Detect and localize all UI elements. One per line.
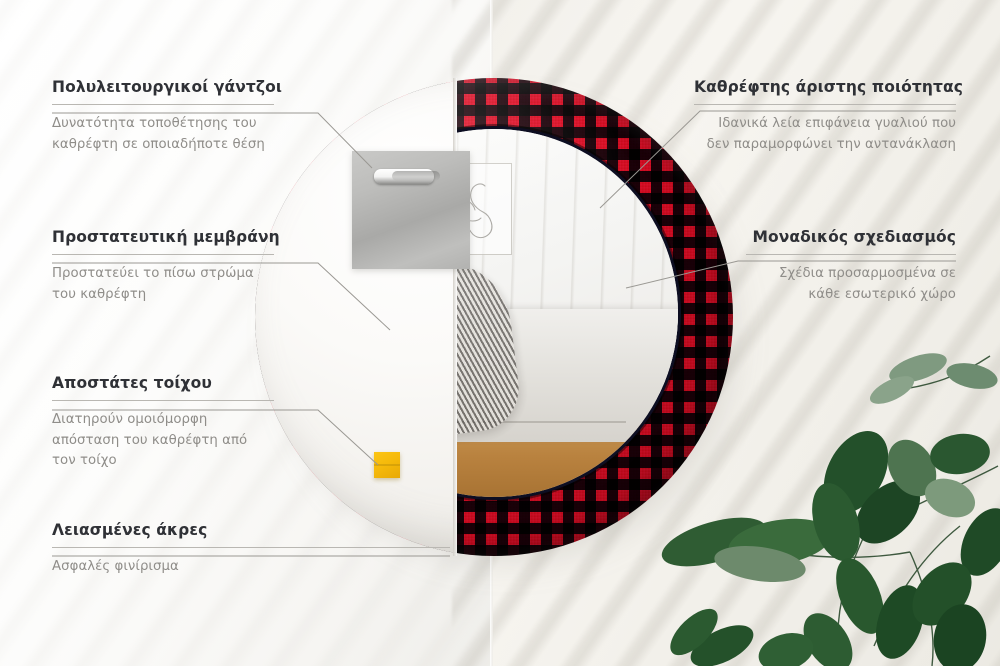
callout-unique-design-rule <box>746 254 956 255</box>
callout-unique-design-title: Μοναδικός σχεδιασμός <box>746 228 956 247</box>
callout-quality-mirror-title: Καθρέφτης άριστης ποιότητας <box>694 78 956 97</box>
callout-hooks-rule <box>52 104 274 105</box>
callout-spacers-description: Διατηρούν ομοιόμορφη απόσταση του καθρέφ… <box>52 410 274 471</box>
callout-quality-mirror: Καθρέφτης άριστης ποιότητας Ιδανικά λεία… <box>694 78 956 155</box>
callout-edges-description: Ασφαλές φινίρισμα <box>52 557 450 577</box>
hanger-slot-shadow <box>392 171 440 181</box>
callout-quality-mirror-description: Ιδανικά λεία επιφάνεια γυαλιού που δεν π… <box>694 114 956 154</box>
callout-hooks: Πολυλειτουργικοί γάντζοι Δυνατότητα τοπο… <box>52 78 274 155</box>
callout-quality-mirror-rule <box>694 104 956 105</box>
callout-unique-design: Μοναδικός σχεδιασμός Σχέδια προσαρμοσμέν… <box>746 228 956 305</box>
callout-edges-title: Λειασμένες άκρες <box>52 521 450 540</box>
hanger-plate-icon <box>352 151 470 269</box>
callout-spacers-title: Αποστάτες τοίχου <box>52 374 274 393</box>
product-round-mirror <box>255 78 733 556</box>
callout-membrane-description: Προστατεύει το πίσω στρώμα του καθρέφτη <box>52 264 274 304</box>
callout-membrane: Προστατευτική μεμβράνη Προστατεύει το πί… <box>52 228 274 305</box>
callout-membrane-rule <box>52 254 274 255</box>
callout-spacers: Αποστάτες τοίχου Διατηρούν ομοιόμορφη απ… <box>52 374 274 471</box>
wall-spacer-icon <box>374 452 400 478</box>
callout-hooks-description: Δυνατότητα τοποθέτησης του καθρέφτη σε ο… <box>52 114 274 154</box>
callout-unique-design-description: Σχέδια προσαρμοσμένα σε κάθε εσωτερικό χ… <box>746 264 956 304</box>
callout-edges-rule <box>52 547 450 548</box>
callout-hooks-title: Πολυλειτουργικοί γάντζοι <box>52 78 274 97</box>
infographic-canvas: Πολυλειτουργικοί γάντζοι Δυνατότητα τοπο… <box>0 0 1000 666</box>
callout-spacers-rule <box>52 400 274 401</box>
callout-edges: Λειασμένες άκρες Ασφαλές φινίρισμα <box>52 521 450 578</box>
callout-membrane-title: Προστατευτική μεμβράνη <box>52 228 274 247</box>
